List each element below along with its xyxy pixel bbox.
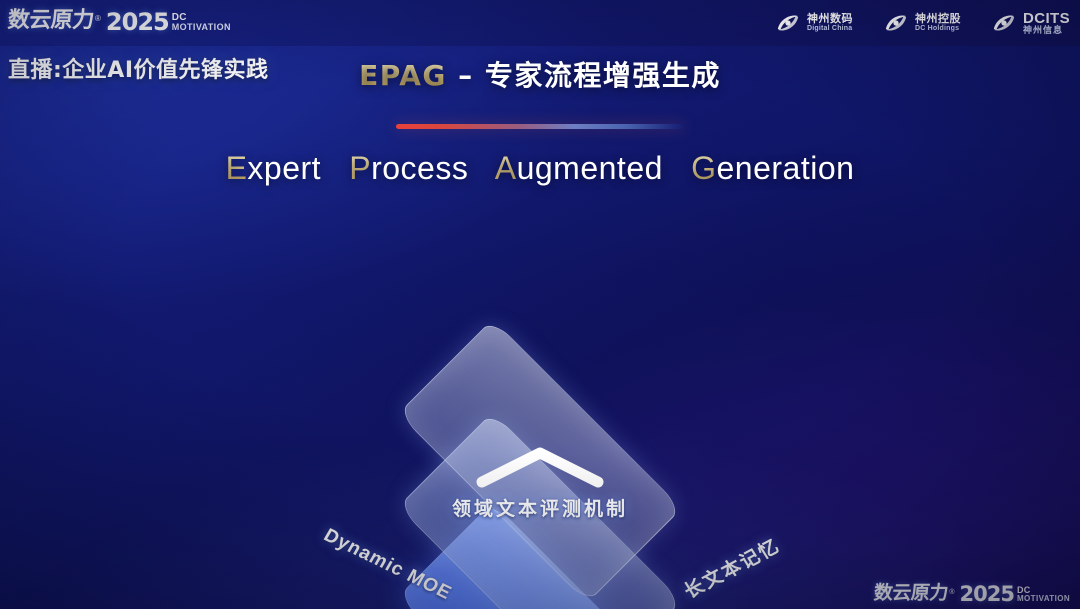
swirl-icon xyxy=(775,12,801,34)
event-logo-motivation: MOTIVATION xyxy=(172,23,231,32)
partner-label: 神州控股 DC Holdings xyxy=(915,14,961,32)
title-acronym: EPAG xyxy=(359,59,447,92)
subtitle-word-augmented: Augmented xyxy=(495,150,663,186)
event-logo-dc-block: DC MOTIVATION xyxy=(172,13,231,34)
stack-label-top: 领域文本评测机制 xyxy=(452,494,628,521)
partner-name-en: Digital China xyxy=(807,25,853,32)
partner-logo-dcits: DCITS 神州信息 xyxy=(991,11,1070,35)
subtitle-cap: A xyxy=(495,150,517,186)
architecture-stack-diagram: 领域文本评测机制 Dynamic MOE 长文本记忆 三类语义建模模块 xyxy=(280,386,800,609)
gradient-divider xyxy=(396,124,684,129)
partner-name-en: DCITS xyxy=(1023,11,1070,26)
space xyxy=(478,150,487,186)
subtitle-cap: P xyxy=(349,150,371,186)
subtitle-rest: rocess xyxy=(371,150,468,186)
title-chinese: 专家流程增强生成 xyxy=(485,59,721,92)
event-logo-cn: 数云原力 xyxy=(7,2,96,34)
space xyxy=(330,150,339,186)
partner-name-en: DC Holdings xyxy=(915,25,961,32)
subtitle-word-expert: Expert xyxy=(226,150,321,186)
subtitle-rest: ugmented xyxy=(517,150,663,186)
watermark-dc-block: DC MOTIVATION xyxy=(1017,586,1070,605)
partner-name-cn: 神州数码 xyxy=(807,14,853,25)
partner-logo-dc-holdings: 神州控股 DC Holdings xyxy=(883,12,961,34)
watermark-logo: 数云原力 ® 2025 DC MOTIVATION xyxy=(874,578,1070,605)
title-separator: – xyxy=(447,59,485,92)
partner-logo-row: 神州数码 Digital China 神州控股 DC Holdings xyxy=(775,11,1070,35)
subtitle-cap: E xyxy=(226,150,248,186)
stack-label-middle-right: 长文本记忆 xyxy=(678,531,785,603)
watermark-cn: 数云原力 xyxy=(873,578,949,605)
partner-name-cn: 神州信息 xyxy=(1023,26,1070,35)
subtitle-word-process: Process xyxy=(349,150,468,186)
subtitle-rest: xpert xyxy=(247,150,321,186)
page-title: EPAG – 专家流程增强生成 xyxy=(0,54,1080,94)
subtitle-word-generation: Generation xyxy=(691,150,854,186)
registered-mark: ® xyxy=(95,14,101,23)
watermark-motivation: MOTIVATION xyxy=(1017,595,1070,603)
partner-label: 神州数码 Digital China xyxy=(807,14,853,32)
subtitle-cap: G xyxy=(691,150,716,186)
swirl-icon xyxy=(991,12,1017,34)
event-logo: 数云原力 ® 2025 DC MOTIVATION xyxy=(8,2,231,34)
partner-logo-digital-china: 神州数码 Digital China xyxy=(775,12,853,34)
slide-stage: 神州数码 Digital China 神州控股 DC Holdings xyxy=(0,0,1080,609)
partner-label: DCITS 神州信息 xyxy=(1023,11,1070,35)
registered-mark: ® xyxy=(949,589,954,596)
swirl-icon xyxy=(883,12,909,34)
watermark-year: 2025 xyxy=(960,585,1014,605)
partner-name-cn: 神州控股 xyxy=(915,14,961,25)
space xyxy=(672,150,681,186)
chevron-up-icon xyxy=(472,442,608,490)
event-logo-year: 2025 xyxy=(106,11,169,34)
subtitle-rest: eneration xyxy=(716,150,854,186)
page-subtitle: Expert Process Augmented Generation xyxy=(0,150,1080,187)
